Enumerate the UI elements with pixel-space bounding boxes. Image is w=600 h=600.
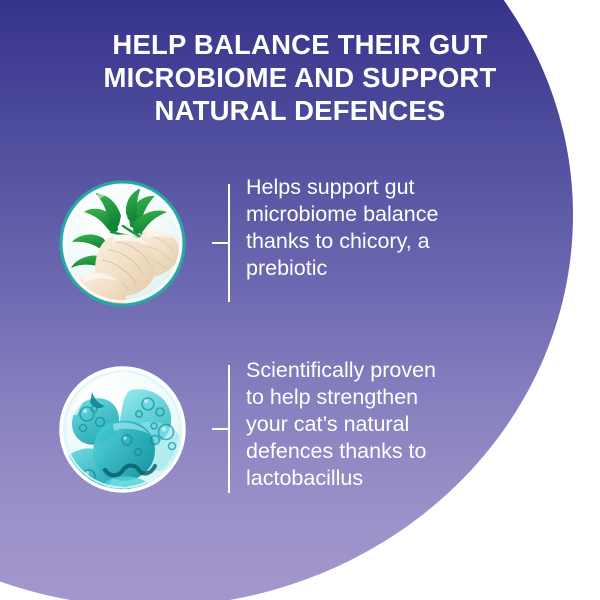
connector-line (212, 184, 230, 302)
benefit-text-line: Scientifically proven (246, 357, 498, 384)
connector-tick (212, 242, 230, 244)
benefit-item: Helps support gut microbiome balance tha… (0, 163, 600, 323)
benefit-text-line: Helps support gut (246, 174, 496, 201)
headline-line-3: NATURAL DEFENCES (50, 94, 550, 127)
benefit-text: Scientifically proven to help strengthen… (246, 357, 498, 492)
connector-tick (212, 428, 230, 430)
headline-line-1: HELP BALANCE THEIR GUT (50, 28, 550, 61)
lactobacillus-icon (59, 366, 186, 493)
benefit-text-line: thanks to chicory, a (246, 228, 496, 255)
benefit-text-line: your cat’s natural (246, 411, 498, 438)
chicory-root-icon (59, 180, 186, 307)
benefit-text-line: to help strengthen (246, 384, 498, 411)
benefit-text-line: defences thanks to (246, 438, 498, 465)
benefit-text-line: microbiome balance (246, 201, 496, 228)
connector-line (212, 365, 230, 493)
benefit-text-line: prebiotic (246, 255, 496, 282)
benefit-item: Scientifically proven to help strengthen… (0, 349, 600, 509)
benefit-text-line: lactobacillus (246, 465, 498, 492)
benefit-text: Helps support gut microbiome balance tha… (246, 174, 496, 282)
headline-line-2: MICROBIOME AND SUPPORT (50, 61, 550, 94)
promo-graphic: HELP BALANCE THEIR GUT MICROBIOME AND SU… (0, 0, 600, 600)
page-title: HELP BALANCE THEIR GUT MICROBIOME AND SU… (50, 28, 550, 127)
